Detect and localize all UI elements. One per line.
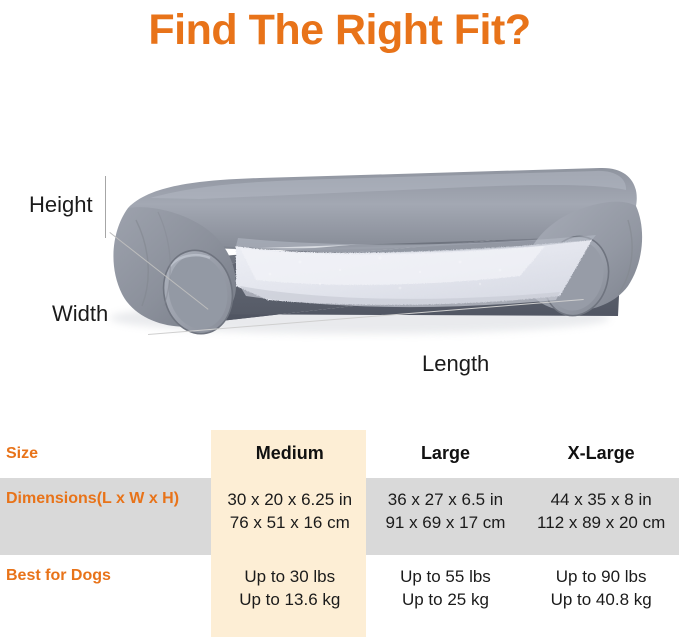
dimensions-large-cm: 91 x 69 x 17 cm [368,511,524,534]
column-header-x-large: X-Large [523,430,679,464]
dimensions-medium-cm: 76 x 51 x 16 cm [212,511,368,534]
weight-medium-lbs: Up to 30 lbs [212,565,368,588]
cell-weight-medium: Up to 30 lbs Up to 13.6 kg [212,555,368,611]
length-label: Length [422,351,489,377]
column-header-large: Large [368,430,524,464]
dog-bed-image [0,80,679,420]
table-row-size-header: Size Medium Large X-Large [0,430,679,478]
weight-large-lbs: Up to 55 lbs [368,565,524,588]
table-row-dimensions: Dimensions(L x W x H) 30 x 20 x 6.25 in … [0,478,679,555]
dimensions-large-in: 36 x 27 x 6.5 in [368,488,524,511]
weight-x-large-lbs: Up to 90 lbs [523,565,679,588]
cell-weight-x-large: Up to 90 lbs Up to 40.8 kg [523,555,679,611]
dimensions-x-large-in: 44 x 35 x 8 in [523,488,679,511]
dimensions-medium-in: 30 x 20 x 6.25 in [212,488,368,511]
row-label-size: Size [0,430,212,464]
size-comparison-table: Size Medium Large X-Large Dimensions(L x… [0,430,679,637]
product-illustration [0,80,679,420]
width-label: Width [52,301,108,327]
cell-weight-large: Up to 55 lbs Up to 25 kg [368,555,524,611]
row-label-best-for-dogs: Best for Dogs [0,555,212,586]
page-title: Find The Right Fit? [0,4,679,56]
column-header-medium: Medium [212,430,368,464]
cell-dimensions-x-large: 44 x 35 x 8 in 112 x 89 x 20 cm [523,478,679,534]
row-label-dimensions: Dimensions(L x W x H) [0,478,212,509]
cell-dimensions-medium: 30 x 20 x 6.25 in 76 x 51 x 16 cm [212,478,368,534]
weight-medium-kg: Up to 13.6 kg [212,588,368,611]
height-leader-line [105,176,106,238]
cell-dimensions-large: 36 x 27 x 6.5 in 91 x 69 x 17 cm [368,478,524,534]
weight-x-large-kg: Up to 40.8 kg [523,588,679,611]
height-label: Height [29,192,93,218]
weight-large-kg: Up to 25 kg [368,588,524,611]
table-row-best-for-dogs: Best for Dogs Up to 30 lbs Up to 13.6 kg… [0,555,679,637]
dimensions-x-large-cm: 112 x 89 x 20 cm [523,511,679,534]
